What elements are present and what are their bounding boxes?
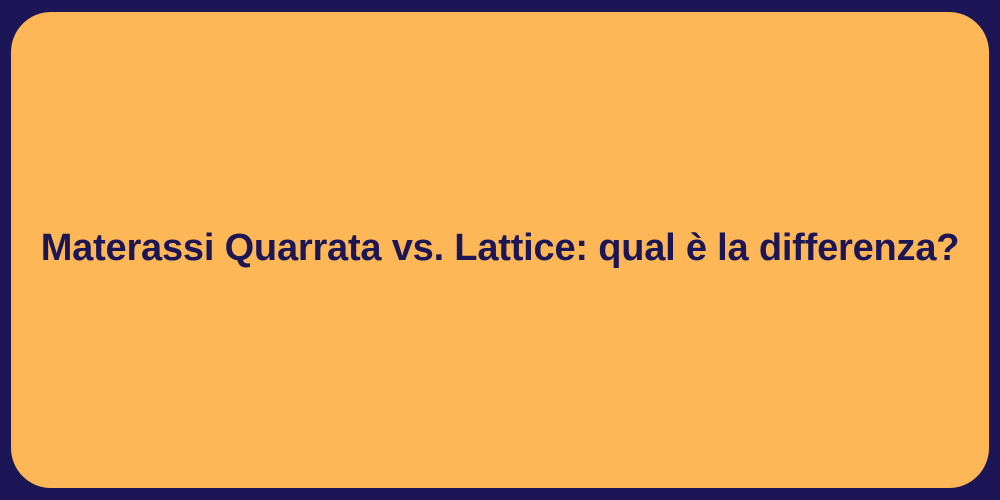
- content-card: Materassi Quarrata vs. Lattice: qual è l…: [11, 12, 989, 488]
- page-root: Materassi Quarrata vs. Lattice: qual è l…: [0, 0, 1000, 500]
- page-title: Materassi Quarrata vs. Lattice: qual è l…: [41, 226, 960, 272]
- title-container: Materassi Quarrata vs. Lattice: qual è l…: [11, 226, 989, 272]
